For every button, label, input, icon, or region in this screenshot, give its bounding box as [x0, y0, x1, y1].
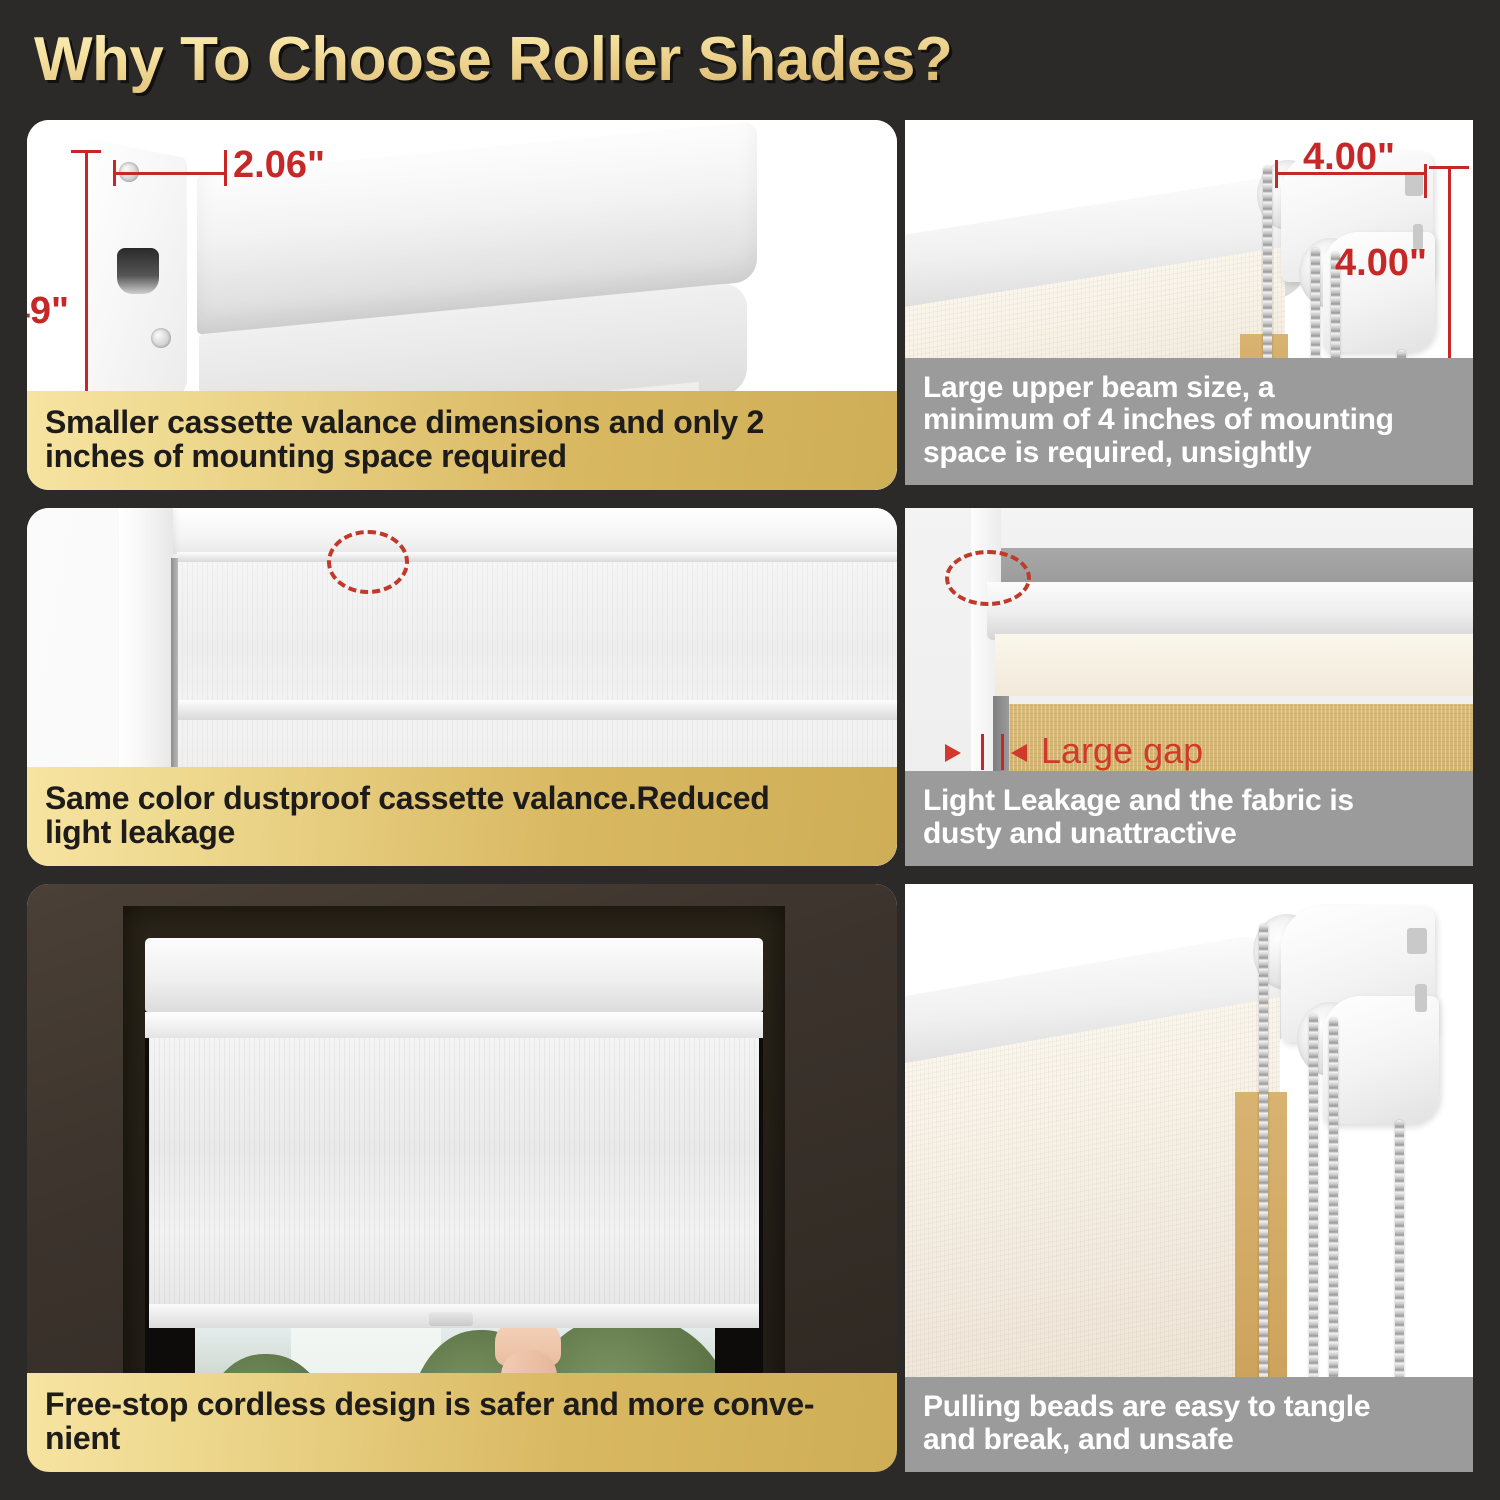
- caption-line: and break, and unsafe: [923, 1424, 1455, 1456]
- caption-large-upper-beam: Large upper beam size, a minimum of 4 in…: [905, 358, 1473, 485]
- caption-line: nient: [45, 1421, 879, 1456]
- caption-smaller-cassette: Smaller cassette valance dimensions and …: [27, 391, 897, 490]
- cassette-mid-rail: [177, 700, 897, 720]
- bracket-slot-bottom-2: [1415, 984, 1427, 1012]
- cordless-valance: [145, 938, 763, 1012]
- dim-cap-height-top: [71, 150, 101, 153]
- dimension-label-width: 2.06": [233, 144, 325, 187]
- caption-line: Smaller cassette valance dimensions and …: [45, 405, 879, 440]
- infographic-page: Why To Choose Roller Shades? Why To Choo…: [0, 0, 1500, 1500]
- gap-arrow-right-bad: [1011, 744, 1027, 762]
- gap-label-large: Large gap: [1041, 730, 1203, 772]
- caption-dustproof-cassette: Same color dustproof cassette valance.Re…: [27, 767, 897, 866]
- caption-light-leakage: Light Leakage and the fabric is dusty an…: [905, 771, 1473, 866]
- caption-pulling-beads: Pulling beads are easy to tangle and bre…: [905, 1377, 1473, 1472]
- highlight-circle-gap-bad: [945, 550, 1031, 606]
- dim-line-beam-height: [1448, 166, 1451, 366]
- gap-arrow-left-bad: [945, 744, 961, 762]
- caption-line: Pulling beads are easy to tangle: [923, 1391, 1455, 1423]
- mounting-bracket-bottom-lower: [1323, 996, 1439, 1124]
- panel-light-leakage: Large gap Light Leakage and the fabric i…: [905, 508, 1473, 866]
- gap-tick-1-bad: [981, 734, 984, 770]
- panel-dustproof-cassette: smaller gap Same color dustproof cassett…: [27, 508, 897, 866]
- highlight-circle-gap: [327, 530, 409, 594]
- caption-line: Light Leakage and the fabric is: [923, 785, 1455, 817]
- panel-smaller-cassette: 2.06" 5.49" Smaller cassette valance dim…: [27, 120, 897, 490]
- cassette-screw-mid: [151, 328, 171, 348]
- caption-line: inches of mounting space required: [45, 439, 879, 474]
- dim-tick-width-left: [113, 160, 116, 186]
- gap-tick-2-bad: [1001, 734, 1004, 770]
- bracket-slot-1: [1405, 172, 1423, 196]
- panel-large-upper-beam: 4.00" 4.00" Large upper beam size, a min…: [905, 120, 1473, 485]
- cordless-shade-fabric: [149, 1038, 759, 1316]
- caption-line: space is required, unsightly: [923, 437, 1455, 469]
- caption-line: light leakage: [45, 815, 879, 850]
- panel-cordless-design: Free-stop cordless design is safer and m…: [27, 884, 897, 1472]
- caption-line: Large upper beam size, a: [923, 372, 1455, 404]
- cassette-head-rail: [177, 552, 897, 562]
- pull-tab: [429, 1312, 473, 1326]
- caption-cordless-design: Free-stop cordless design is safer and m…: [27, 1373, 897, 1472]
- exposed-roller-tube: [987, 582, 1473, 640]
- bracket-slot-bottom-1: [1407, 928, 1427, 954]
- dim-tick-beam-left: [1275, 160, 1278, 188]
- dimension-label-beam-height: 4.00": [1335, 242, 1427, 285]
- panel-pulling-beads: Pulling beads are easy to tangle and bre…: [905, 884, 1473, 1472]
- caption-line: dusty and unattractive: [923, 818, 1455, 850]
- window-frame-top: [119, 508, 897, 554]
- cordless-valance-lip: [145, 1012, 763, 1038]
- caption-line: minimum of 4 inches of mounting: [923, 404, 1455, 436]
- dimension-label-height: 5.49": [27, 290, 69, 333]
- caption-line: Free-stop cordless design is safer and m…: [45, 1387, 879, 1422]
- dim-tick-width-right: [224, 150, 227, 186]
- dim-line-width: [113, 172, 227, 175]
- dim-cap-beam-top: [1429, 166, 1469, 169]
- page-title: Why To Choose Roller Shades?: [34, 22, 1234, 98]
- caption-line: Same color dustproof cassette valance.Re…: [45, 781, 879, 816]
- cream-fabric-band: [995, 634, 1473, 696]
- cassette-slot: [117, 248, 159, 294]
- dimension-label-beam-width: 4.00": [1303, 136, 1395, 179]
- dim-tick-beam-right: [1424, 164, 1427, 198]
